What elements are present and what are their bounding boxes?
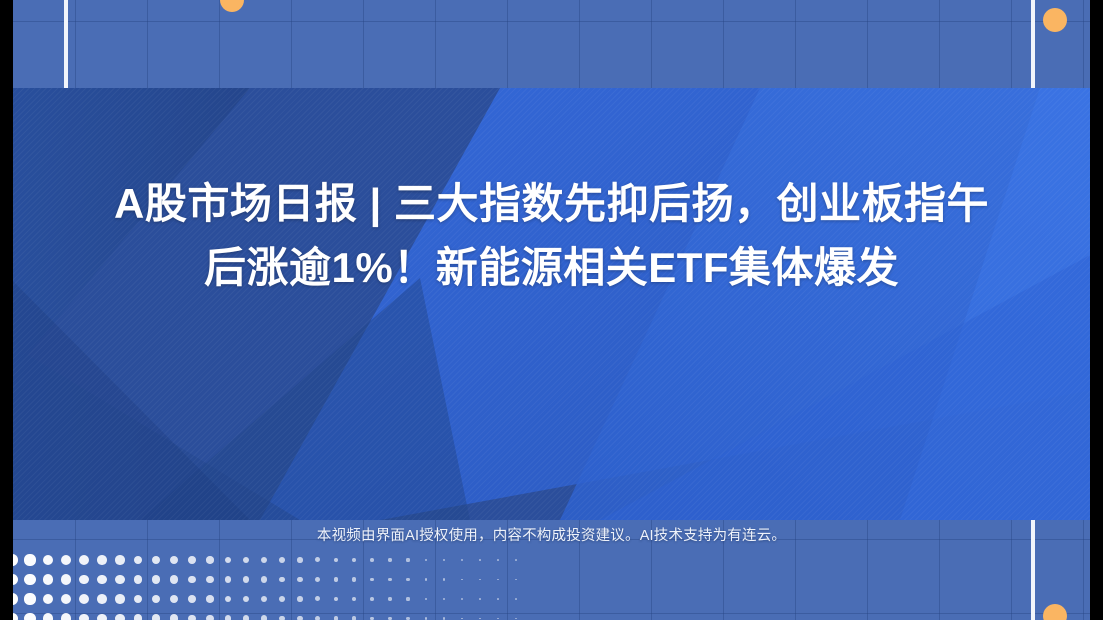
halftone-dot	[425, 598, 428, 601]
halftone-dot	[406, 578, 409, 581]
halftone-dot	[515, 559, 517, 561]
halftone-dot	[479, 579, 481, 581]
page-title: A股市场日报 | 三大指数先抑后扬，创业板指午后涨逾1%！新能源相关ETF集体爆…	[100, 172, 1003, 300]
halftone-dot	[188, 615, 196, 620]
halftone-dot	[461, 618, 463, 620]
halftone-dot	[225, 596, 232, 603]
marker-bar-top-right	[1031, 0, 1035, 92]
halftone-dot	[243, 557, 250, 564]
halftone-dot	[279, 616, 285, 620]
halftone-dot	[134, 575, 143, 584]
halftone-dot	[334, 577, 339, 582]
halftone-dot	[315, 557, 320, 562]
halftone-dot	[315, 596, 320, 601]
halftone-dot	[479, 598, 481, 600]
halftone-dot	[152, 556, 160, 564]
marker-bar-top-left	[64, 0, 68, 92]
halftone-dot	[134, 614, 143, 620]
halftone-dot	[334, 558, 339, 563]
halftone-dot	[279, 596, 285, 602]
accent-dot-top-right	[1043, 8, 1067, 32]
halftone-dot	[24, 593, 35, 604]
halftone-dot	[334, 597, 339, 602]
letterbox-right	[1090, 0, 1103, 620]
halftone-dot	[188, 556, 196, 564]
halftone-dot	[370, 558, 374, 562]
halftone-dot	[279, 577, 285, 583]
halftone-dot	[261, 596, 267, 602]
halftone-dot	[443, 617, 445, 619]
halftone-dot	[79, 575, 89, 585]
halftone-dot	[43, 613, 54, 620]
halftone-dot	[206, 595, 213, 602]
halftone-dot	[115, 594, 124, 603]
halftone-dot	[115, 614, 124, 620]
halftone-dot	[170, 614, 178, 620]
halftone-dot	[188, 595, 196, 603]
halftone-dot	[61, 594, 71, 604]
halftone-dot	[315, 616, 320, 620]
halftone-dot	[352, 616, 356, 620]
halftone-dot	[297, 616, 302, 620]
halftone-dot	[134, 595, 143, 604]
halftone-dot	[170, 595, 178, 603]
halftone-dot	[370, 578, 374, 582]
halftone-dot	[261, 615, 267, 620]
halftone-dot	[97, 575, 107, 585]
halftone-dot	[497, 559, 499, 561]
halftone-dot	[79, 594, 89, 604]
halftone-dot-field	[0, 552, 510, 620]
halftone-dot	[388, 578, 391, 581]
halftone-dot	[370, 617, 374, 620]
halftone-dot	[225, 615, 232, 620]
halftone-dot	[406, 558, 409, 561]
halftone-dot	[43, 574, 54, 585]
halftone-dot	[479, 618, 481, 620]
halftone-dot	[24, 574, 35, 585]
halftone-dot	[43, 555, 54, 566]
halftone-dot	[388, 558, 391, 561]
video-frame: A股市场日报 | 三大指数先抑后扬，创业板指午后涨逾1%！新能源相关ETF集体爆…	[0, 0, 1103, 620]
halftone-dot	[461, 559, 463, 561]
halftone-dot	[352, 558, 356, 562]
halftone-dot	[279, 557, 285, 563]
halftone-dot	[370, 597, 374, 601]
halftone-dot	[315, 577, 320, 582]
halftone-dot	[115, 555, 124, 564]
halftone-dot	[115, 575, 124, 584]
banner-stripe-texture	[0, 88, 1103, 520]
halftone-dot	[79, 614, 89, 620]
halftone-dot	[425, 617, 428, 620]
halftone-dot	[152, 575, 160, 583]
halftone-dot	[170, 556, 178, 564]
halftone-dot	[425, 578, 428, 581]
halftone-dot	[152, 595, 160, 603]
halftone-dot	[497, 618, 499, 620]
halftone-dot	[497, 598, 499, 600]
halftone-dot	[443, 559, 445, 561]
halftone-dot	[352, 577, 356, 581]
halftone-dot	[352, 597, 356, 601]
halftone-dot	[461, 579, 463, 581]
halftone-dot	[206, 576, 213, 583]
disclaimer-text: 本视频由界面AI授权使用，内容不构成投资建议。AI技术支持为有连云。	[0, 524, 1103, 545]
halftone-dot	[43, 594, 54, 605]
halftone-dot	[497, 579, 499, 581]
halftone-dot	[297, 596, 302, 601]
halftone-dot	[170, 575, 178, 583]
halftone-dot	[24, 613, 35, 620]
halftone-dot	[443, 598, 445, 600]
halftone-dot	[97, 614, 107, 620]
halftone-dot	[334, 616, 339, 620]
halftone-dot	[61, 555, 71, 565]
halftone-dot	[243, 615, 250, 620]
halftone-dot	[406, 597, 409, 600]
halftone-dot	[225, 557, 232, 564]
halftone-dot	[61, 574, 71, 584]
halftone-dot	[261, 576, 267, 582]
halftone-dot	[243, 576, 250, 583]
halftone-dot	[79, 555, 89, 565]
halftone-dot	[261, 557, 267, 563]
halftone-dot	[297, 577, 302, 582]
halftone-dot	[461, 598, 463, 600]
halftone-dot	[243, 596, 250, 603]
halftone-dot	[97, 555, 107, 565]
halftone-dot	[188, 576, 196, 584]
halftone-dot	[425, 559, 428, 562]
letterbox-left	[0, 0, 13, 620]
halftone-dot	[479, 559, 481, 561]
halftone-dot	[24, 554, 35, 565]
halftone-dot	[206, 615, 213, 620]
halftone-dot	[152, 614, 160, 620]
halftone-dot	[61, 613, 71, 620]
halftone-dot	[297, 557, 302, 562]
halftone-dot	[443, 578, 445, 580]
halftone-dot	[388, 597, 391, 600]
halftone-dot	[206, 556, 213, 563]
halftone-dot	[225, 576, 232, 583]
headline-banner: A股市场日报 | 三大指数先抑后扬，创业板指午后涨逾1%！新能源相关ETF集体爆…	[0, 88, 1103, 520]
halftone-dot	[134, 556, 143, 565]
halftone-dot	[515, 598, 517, 600]
halftone-dot	[97, 594, 107, 604]
